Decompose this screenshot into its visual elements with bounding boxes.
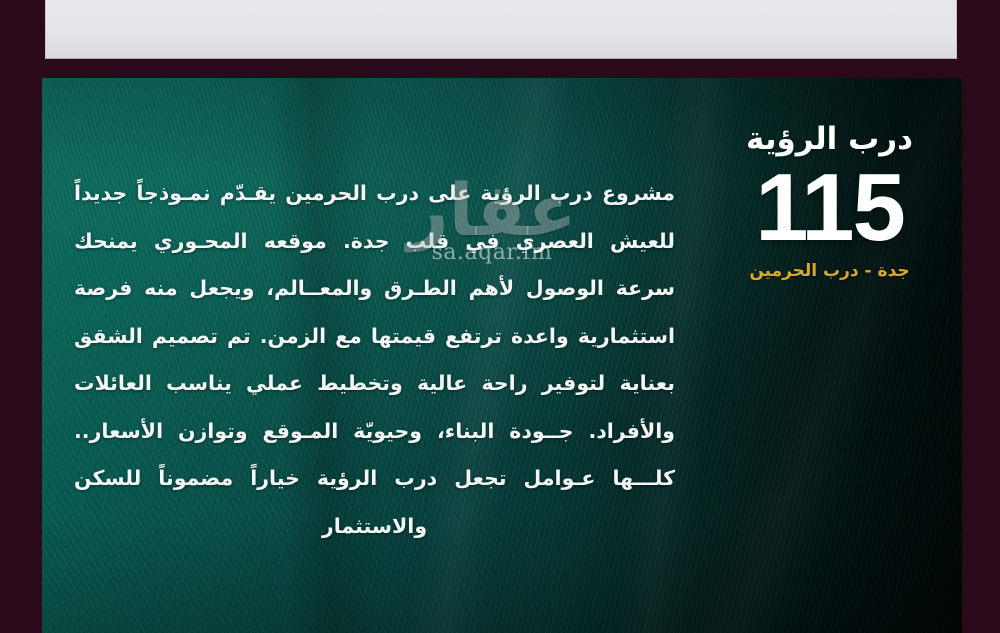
page-top-strip (45, 0, 957, 59)
promo-content: درب الرؤية 115 جدة - درب الحرمين مشروع د… (42, 78, 962, 633)
page-root: درب الرؤية 115 جدة - درب الحرمين مشروع د… (0, 0, 1000, 633)
location-label: جدة - درب الحرمين (697, 261, 962, 281)
project-name-heading: درب الرؤية (697, 120, 962, 159)
promo-body-block: مشروع درب الرؤية على درب الحرمين يقـدّم … (42, 78, 697, 580)
unit-number-value: 115 (697, 163, 962, 253)
promo-title-block: درب الرؤية 115 جدة - درب الحرمين (697, 78, 962, 281)
promo-description-paragraph: مشروع درب الرؤية على درب الحرمين يقـدّم … (74, 170, 675, 550)
promo-image-panel[interactable]: درب الرؤية 115 جدة - درب الحرمين مشروع د… (42, 78, 962, 633)
